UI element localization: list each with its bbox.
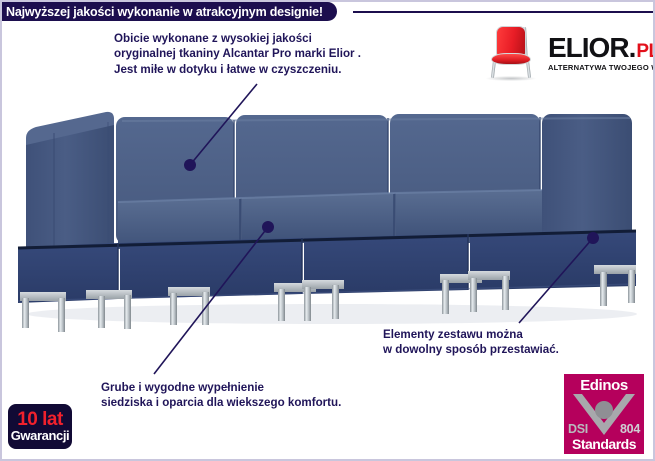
leader-line-filling: [154, 227, 268, 374]
callout-filling-text: Grube i wygodne wypełnienie siedziska i …: [101, 380, 341, 411]
leader-dot-filling: [262, 221, 274, 233]
warranty-label: Gwarancji: [11, 429, 70, 443]
advertisement-canvas: Najwyższej jakości wykonanie w atrakcyjn…: [0, 0, 655, 461]
certification-standard-prefix: DSI: [568, 422, 588, 436]
leader-dot-fabric: [184, 159, 196, 171]
warranty-badge: 10 lat Gwarancji: [8, 404, 72, 449]
callout-modular-text: Elementy zestawu można w dowolny sposób …: [383, 327, 559, 358]
certification-standard-number: 804: [620, 422, 640, 436]
leader-line-modular: [519, 238, 593, 323]
leader-dot-modular: [587, 232, 599, 244]
certification-standard-label: Standards: [564, 436, 644, 452]
leader-line-fabric: [190, 84, 257, 165]
callout-fabric-text: Obicie wykonane z wysokiej jakości orygi…: [114, 31, 361, 77]
certification-badge: Edinos DSI 804 Standards: [564, 374, 644, 454]
warranty-years: 10 lat: [17, 410, 63, 429]
certification-title: Edinos: [564, 377, 644, 394]
